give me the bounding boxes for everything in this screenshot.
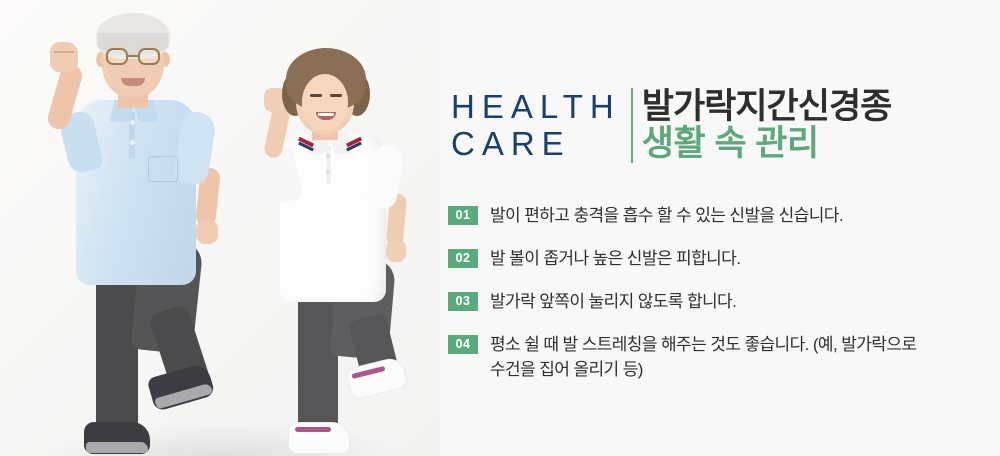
tip-number-badge: 03 bbox=[448, 292, 478, 311]
tip-number-badge: 02 bbox=[448, 249, 478, 268]
list-item: 03 발가락 앞쪽이 눌리지 않도록 합니다. bbox=[448, 289, 918, 314]
man-left-eyebrow bbox=[108, 42, 126, 45]
woman-polo-shirt bbox=[280, 134, 386, 302]
woman-face bbox=[302, 74, 348, 130]
woman-right-hand bbox=[386, 240, 406, 262]
woman-shirt-placket bbox=[326, 146, 331, 184]
man-left-shoe bbox=[84, 422, 150, 454]
headline-condition-name: 발가락지간신경종 bbox=[642, 88, 892, 125]
tip-number-badge: 04 bbox=[448, 335, 478, 354]
tips-list: 01 발이 편하고 충격을 흡수 할 수 있는 신발을 신습니다. 02 발 볼… bbox=[448, 203, 918, 382]
woman-left-shoe bbox=[288, 422, 350, 454]
tip-text-line: 발이 편하고 충격을 흡수 할 수 있는 신발을 신습니다. bbox=[490, 206, 843, 225]
man-glasses-right-lens bbox=[138, 48, 160, 65]
man-shirt-pocket bbox=[148, 156, 178, 182]
headline-health: HEALTH bbox=[451, 88, 621, 125]
list-item: 02 발 볼이 좁거나 높은 신발은 피합니다. bbox=[448, 246, 918, 271]
woman-right-eye bbox=[330, 94, 342, 97]
man-shirt-button-1 bbox=[130, 120, 135, 125]
woman-right-shoe bbox=[345, 355, 409, 400]
man-raised-fist bbox=[50, 42, 78, 72]
elderly-woman-figure bbox=[252, 44, 432, 456]
list-item: 01 발이 편하고 충격을 흡수 할 수 있는 신발을 신습니다. bbox=[448, 203, 918, 228]
tip-text: 발가락 앞쪽이 눌리지 않도록 합니다. bbox=[490, 289, 736, 314]
headline-korean: 발가락지간신경종 생활 속 관리 bbox=[642, 88, 892, 163]
tip-text-line: 발가락 앞쪽이 눌리지 않도록 합니다. bbox=[490, 292, 736, 311]
tip-text-line: 수건을 집어 올리기 등) bbox=[490, 357, 916, 382]
headline-block: HEALTH CARE 발가락지간신경종 생활 속 관리 bbox=[451, 88, 891, 163]
senior-couple-exercising-photo bbox=[0, 0, 440, 456]
man-right-shoe bbox=[147, 362, 216, 412]
man-glasses-bridge bbox=[128, 55, 138, 57]
tip-text: 평소 쉴 때 발 스트레칭을 해주는 것도 좋습니다. (예, 발가락으로 수건… bbox=[490, 332, 916, 382]
man-shirt-button-2 bbox=[130, 140, 135, 145]
headline-divider bbox=[631, 88, 633, 163]
elderly-man-figure bbox=[40, 8, 250, 456]
man-glasses-left-lens bbox=[106, 48, 128, 65]
tip-text-line: 발 볼이 좁거나 높은 신발은 피합니다. bbox=[490, 249, 740, 268]
list-item: 04 평소 쉴 때 발 스트레칭을 해주는 것도 좋습니다. (예, 발가락으로… bbox=[448, 332, 918, 382]
headline-subtitle: 생활 속 관리 bbox=[642, 125, 892, 163]
tip-text: 발 볼이 좁거나 높은 신발은 피합니다. bbox=[490, 246, 740, 271]
health-care-banner: HEALTH CARE 발가락지간신경종 생활 속 관리 01 발이 편하고 충… bbox=[0, 0, 1000, 456]
woman-shirt-button-2 bbox=[326, 170, 330, 174]
headline-care: CARE bbox=[451, 125, 621, 162]
man-right-eyebrow bbox=[140, 42, 158, 45]
woman-left-eye bbox=[310, 94, 322, 97]
man-right-hand bbox=[196, 220, 218, 244]
headline-english: HEALTH CARE bbox=[451, 88, 631, 162]
content-area: HEALTH CARE 발가락지간신경종 생활 속 관리 01 발이 편하고 충… bbox=[446, 0, 1000, 456]
tip-text: 발이 편하고 충격을 흡수 할 수 있는 신발을 신습니다. bbox=[490, 203, 843, 228]
tip-text-line: 평소 쉴 때 발 스트레칭을 해주는 것도 좋습니다. (예, 발가락으로 bbox=[490, 332, 916, 357]
woman-shirt-button-1 bbox=[326, 154, 330, 158]
man-shirt-placket bbox=[129, 112, 135, 158]
tip-number-badge: 01 bbox=[448, 206, 478, 225]
